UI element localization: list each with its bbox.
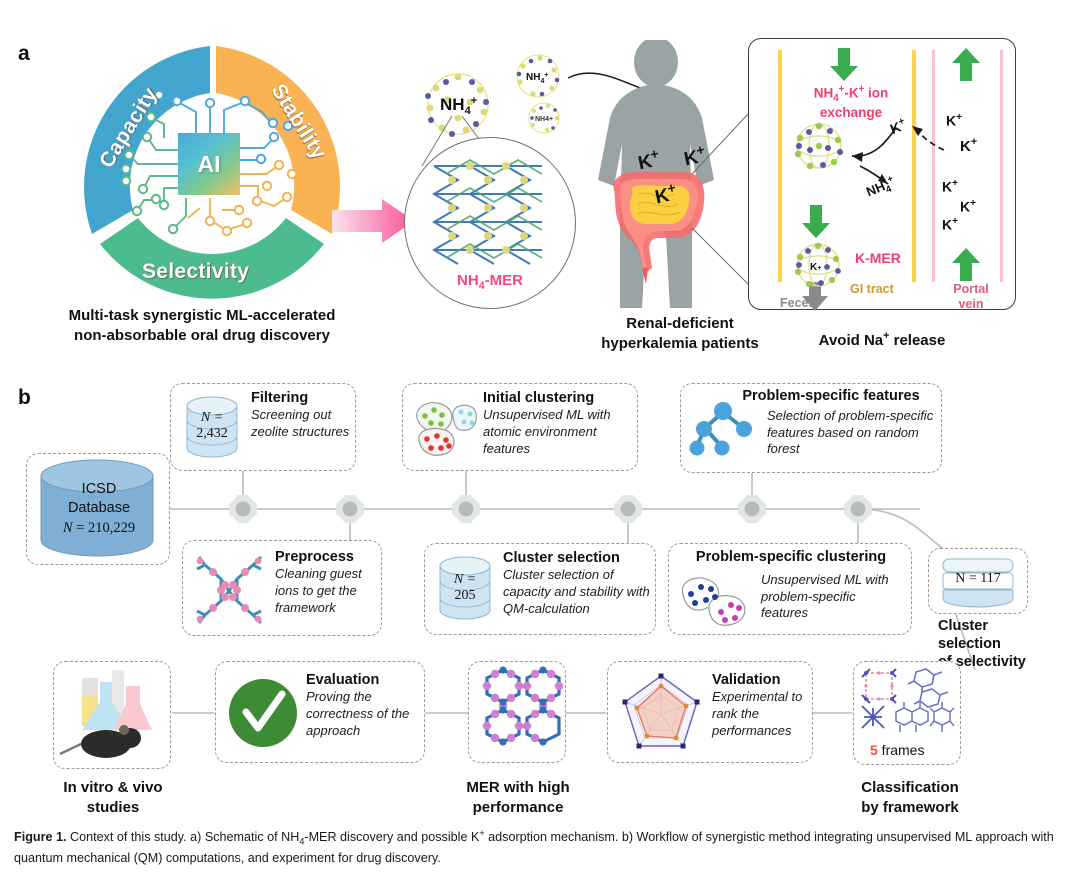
selectivity-arc: [100, 218, 324, 299]
psc-body: Unsupervised ML with problem-specific fe…: [761, 572, 903, 622]
initial-clustering-body: Unsupervised ML with atomic environment …: [483, 407, 633, 457]
step-card-initial-clustering[interactable]: Initial clustering Unsupervised ML with …: [402, 383, 638, 471]
cluster-selection-title: Cluster selection: [503, 550, 653, 567]
nh4-label-small: NH4+: [535, 116, 553, 123]
green-arrow-down-1: [828, 48, 860, 82]
step-card-evaluation[interactable]: Evaluation Proving the correctness of th…: [215, 661, 425, 763]
figure-1: a: [0, 0, 1078, 881]
feces-label: Feces: [780, 296, 815, 310]
step-card-preprocess[interactable]: Preprocess Cleaning guest ions to get th…: [182, 540, 382, 636]
filtering-title: Filtering: [251, 390, 351, 407]
evaluation-title: Evaluation: [306, 672, 418, 689]
mer-lattice-icon: [469, 662, 563, 760]
validation-title: Validation: [712, 672, 808, 689]
mouse-flask-icon: [54, 662, 168, 766]
cluster-selection-count: N =205: [437, 572, 493, 604]
k-mer-cage-icon: K+: [790, 238, 846, 292]
psf-title: Problem-specific features: [723, 388, 939, 405]
green-check-icon: [228, 678, 298, 748]
nh4-mer-label: NH4-MER: [404, 272, 576, 292]
panel-a-left-caption: Multi-task synergistic ML-accelerated no…: [52, 306, 352, 346]
classification-caption: Classification by framework: [830, 778, 990, 817]
green-arrow-up-2: [950, 248, 982, 282]
filtering-body: Screening out zeolite structures: [251, 407, 351, 440]
portal-k-4: K+: [960, 198, 976, 215]
frames-count-label: 5 frames: [870, 742, 924, 758]
molecule-icon-preprocess: [191, 549, 267, 629]
portal-wall-right: [1000, 50, 1003, 282]
step-card-filtering[interactable]: N =2,432 Filtering Screening out zeolite…: [170, 383, 356, 471]
in-vitro-vivo-caption: In vitro & vivo studies: [28, 778, 198, 817]
initial-clustering-title: Initial clustering: [483, 390, 633, 407]
k-mer-label: K-MER: [855, 250, 901, 266]
mer-performance-card[interactable]: [468, 661, 566, 763]
evaluation-body: Proving the correctness of the approach: [306, 689, 418, 739]
svg-text:K+: K+: [810, 262, 821, 273]
green-arrow-down-2: [800, 205, 832, 239]
step-card-problem-specific-clustering[interactable]: Problem-specific clustering Unsupervised…: [668, 543, 912, 635]
portal-k-1: K+: [946, 112, 962, 129]
icsd-database-card[interactable]: ICSD Database N = 210,229: [26, 453, 170, 565]
tri-arc-diagram: AI Capacity Stability Selectivity: [60, 38, 360, 303]
psc-title: Problem-specific clustering: [675, 549, 907, 566]
gi-tract-label: GI tract: [850, 282, 894, 296]
preprocess-title: Preprocess: [275, 549, 379, 566]
step-card-validation[interactable]: Validation Experimental to rank the perf…: [607, 661, 813, 763]
preprocess-body: Cleaning guest ions to get the framework: [275, 566, 379, 616]
validation-body: Experimental to rank the performances: [712, 689, 808, 739]
selectivity-count: N = 117: [939, 571, 1017, 587]
ai-chip: AI: [178, 133, 240, 195]
nh4-label-medium: NH4+: [526, 72, 548, 85]
portal-vein-label: Portalvein: [938, 282, 1004, 312]
selectivity-node-card[interactable]: N = 117: [928, 548, 1028, 614]
figure-caption: Figure 1. Context of this study. a) Sche…: [14, 827, 1064, 868]
icsd-name-line1: ICSD: [27, 480, 171, 499]
gi-wall-left: [778, 50, 782, 282]
green-arrow-up-1: [950, 48, 982, 82]
portal-k-2: K+: [960, 136, 977, 155]
decision-tree-icon: [689, 396, 763, 462]
portal-k-5: K+: [942, 216, 958, 233]
cluster-blobs-icon-initial: [409, 396, 481, 462]
icsd-name-line2: Database: [27, 499, 171, 518]
cluster-selection-body: Cluster selection of capacity and stabil…: [503, 567, 653, 617]
mechanism-leaders: [690, 110, 756, 300]
cluster-blobs-icon-problem: [677, 570, 755, 632]
arc-label-selectivity: Selectivity: [142, 260, 249, 284]
frameworks-icon: [860, 668, 956, 740]
portal-k-3: K+: [942, 178, 958, 195]
panel-a-right-caption: Avoid Na+ release: [748, 330, 1016, 349]
in-vitro-vivo-card[interactable]: [53, 661, 171, 769]
figure-caption-label: Figure 1.: [14, 830, 66, 844]
classification-card[interactable]: 5 frames: [853, 661, 961, 765]
panel-a-letter: a: [18, 42, 30, 66]
step-card-cluster-selection[interactable]: N =205 Cluster selection Cluster selecti…: [424, 543, 656, 635]
psf-body: Selection of problem-specific features b…: [767, 408, 935, 458]
radar-chart-icon: [614, 670, 708, 758]
icsd-count: N = 210,229: [27, 519, 171, 538]
mer-performance-caption: MER with high performance: [438, 778, 598, 817]
step-card-problem-specific-features[interactable]: Problem-specific features Selection of p…: [680, 383, 942, 473]
filtering-count: N =2,432: [185, 410, 239, 442]
